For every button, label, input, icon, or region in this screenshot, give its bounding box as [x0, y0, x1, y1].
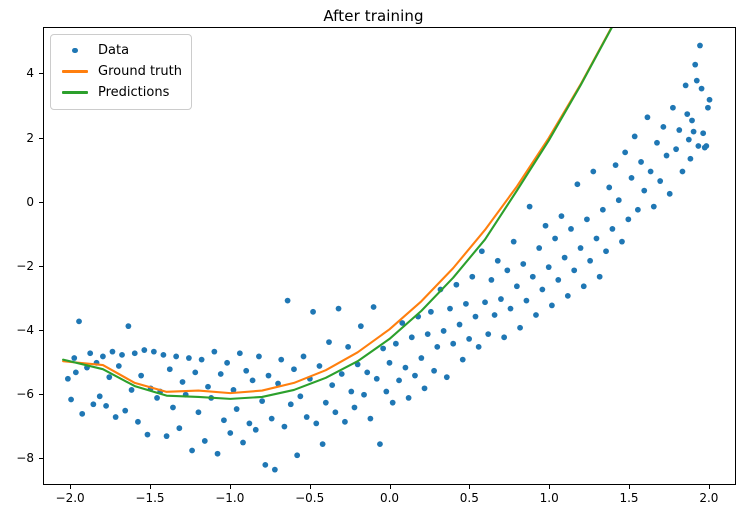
legend-item-data: Data [60, 40, 182, 61]
y-tick [39, 394, 43, 395]
y-tick [39, 266, 43, 267]
x-tick-label: 1.5 [619, 491, 638, 505]
data-marker-icon [60, 48, 90, 54]
y-tick [39, 73, 43, 74]
y-tick-label: −2 [6, 259, 34, 273]
y-tick-label: 0 [6, 195, 34, 209]
x-tick-label: −1.0 [215, 491, 244, 505]
x-tick-label: 2.0 [699, 491, 718, 505]
predictions-line-icon [60, 91, 90, 93]
x-tick [310, 485, 311, 489]
legend-label-predictions: Predictions [98, 86, 169, 99]
chart-title: After training [0, 7, 747, 25]
y-tick [39, 202, 43, 203]
legend-item-predictions: Predictions [60, 82, 182, 103]
x-tick [549, 485, 550, 489]
x-tick [390, 485, 391, 489]
y-tick [39, 330, 43, 331]
x-tick [469, 485, 470, 489]
ground-truth-line-icon [60, 70, 90, 72]
y-tick-label: −4 [6, 323, 34, 337]
legend-label-data: Data [98, 44, 129, 57]
figure: After training −2.0−1.5−1.0−0.50.00.51.0… [0, 0, 747, 528]
x-tick-label: 0.0 [380, 491, 399, 505]
y-tick-label: −8 [6, 451, 34, 465]
x-tick [709, 485, 710, 489]
x-tick-label: −1.5 [135, 491, 164, 505]
y-tick [39, 458, 43, 459]
x-tick-label: 0.5 [460, 491, 479, 505]
y-tick-label: −6 [6, 387, 34, 401]
x-tick [230, 485, 231, 489]
x-tick-label: −0.5 [295, 491, 324, 505]
y-tick-label: 4 [6, 66, 34, 80]
y-tick-label: 2 [6, 131, 34, 145]
x-tick-label: −2.0 [56, 491, 85, 505]
chart-legend: Data Ground truth Predictions [50, 34, 192, 110]
x-tick [70, 485, 71, 489]
legend-label-ground-truth: Ground truth [98, 65, 182, 78]
x-tick [150, 485, 151, 489]
legend-item-ground-truth: Ground truth [60, 61, 182, 82]
x-tick [629, 485, 630, 489]
y-tick [39, 138, 43, 139]
x-tick-label: 1.0 [540, 491, 559, 505]
